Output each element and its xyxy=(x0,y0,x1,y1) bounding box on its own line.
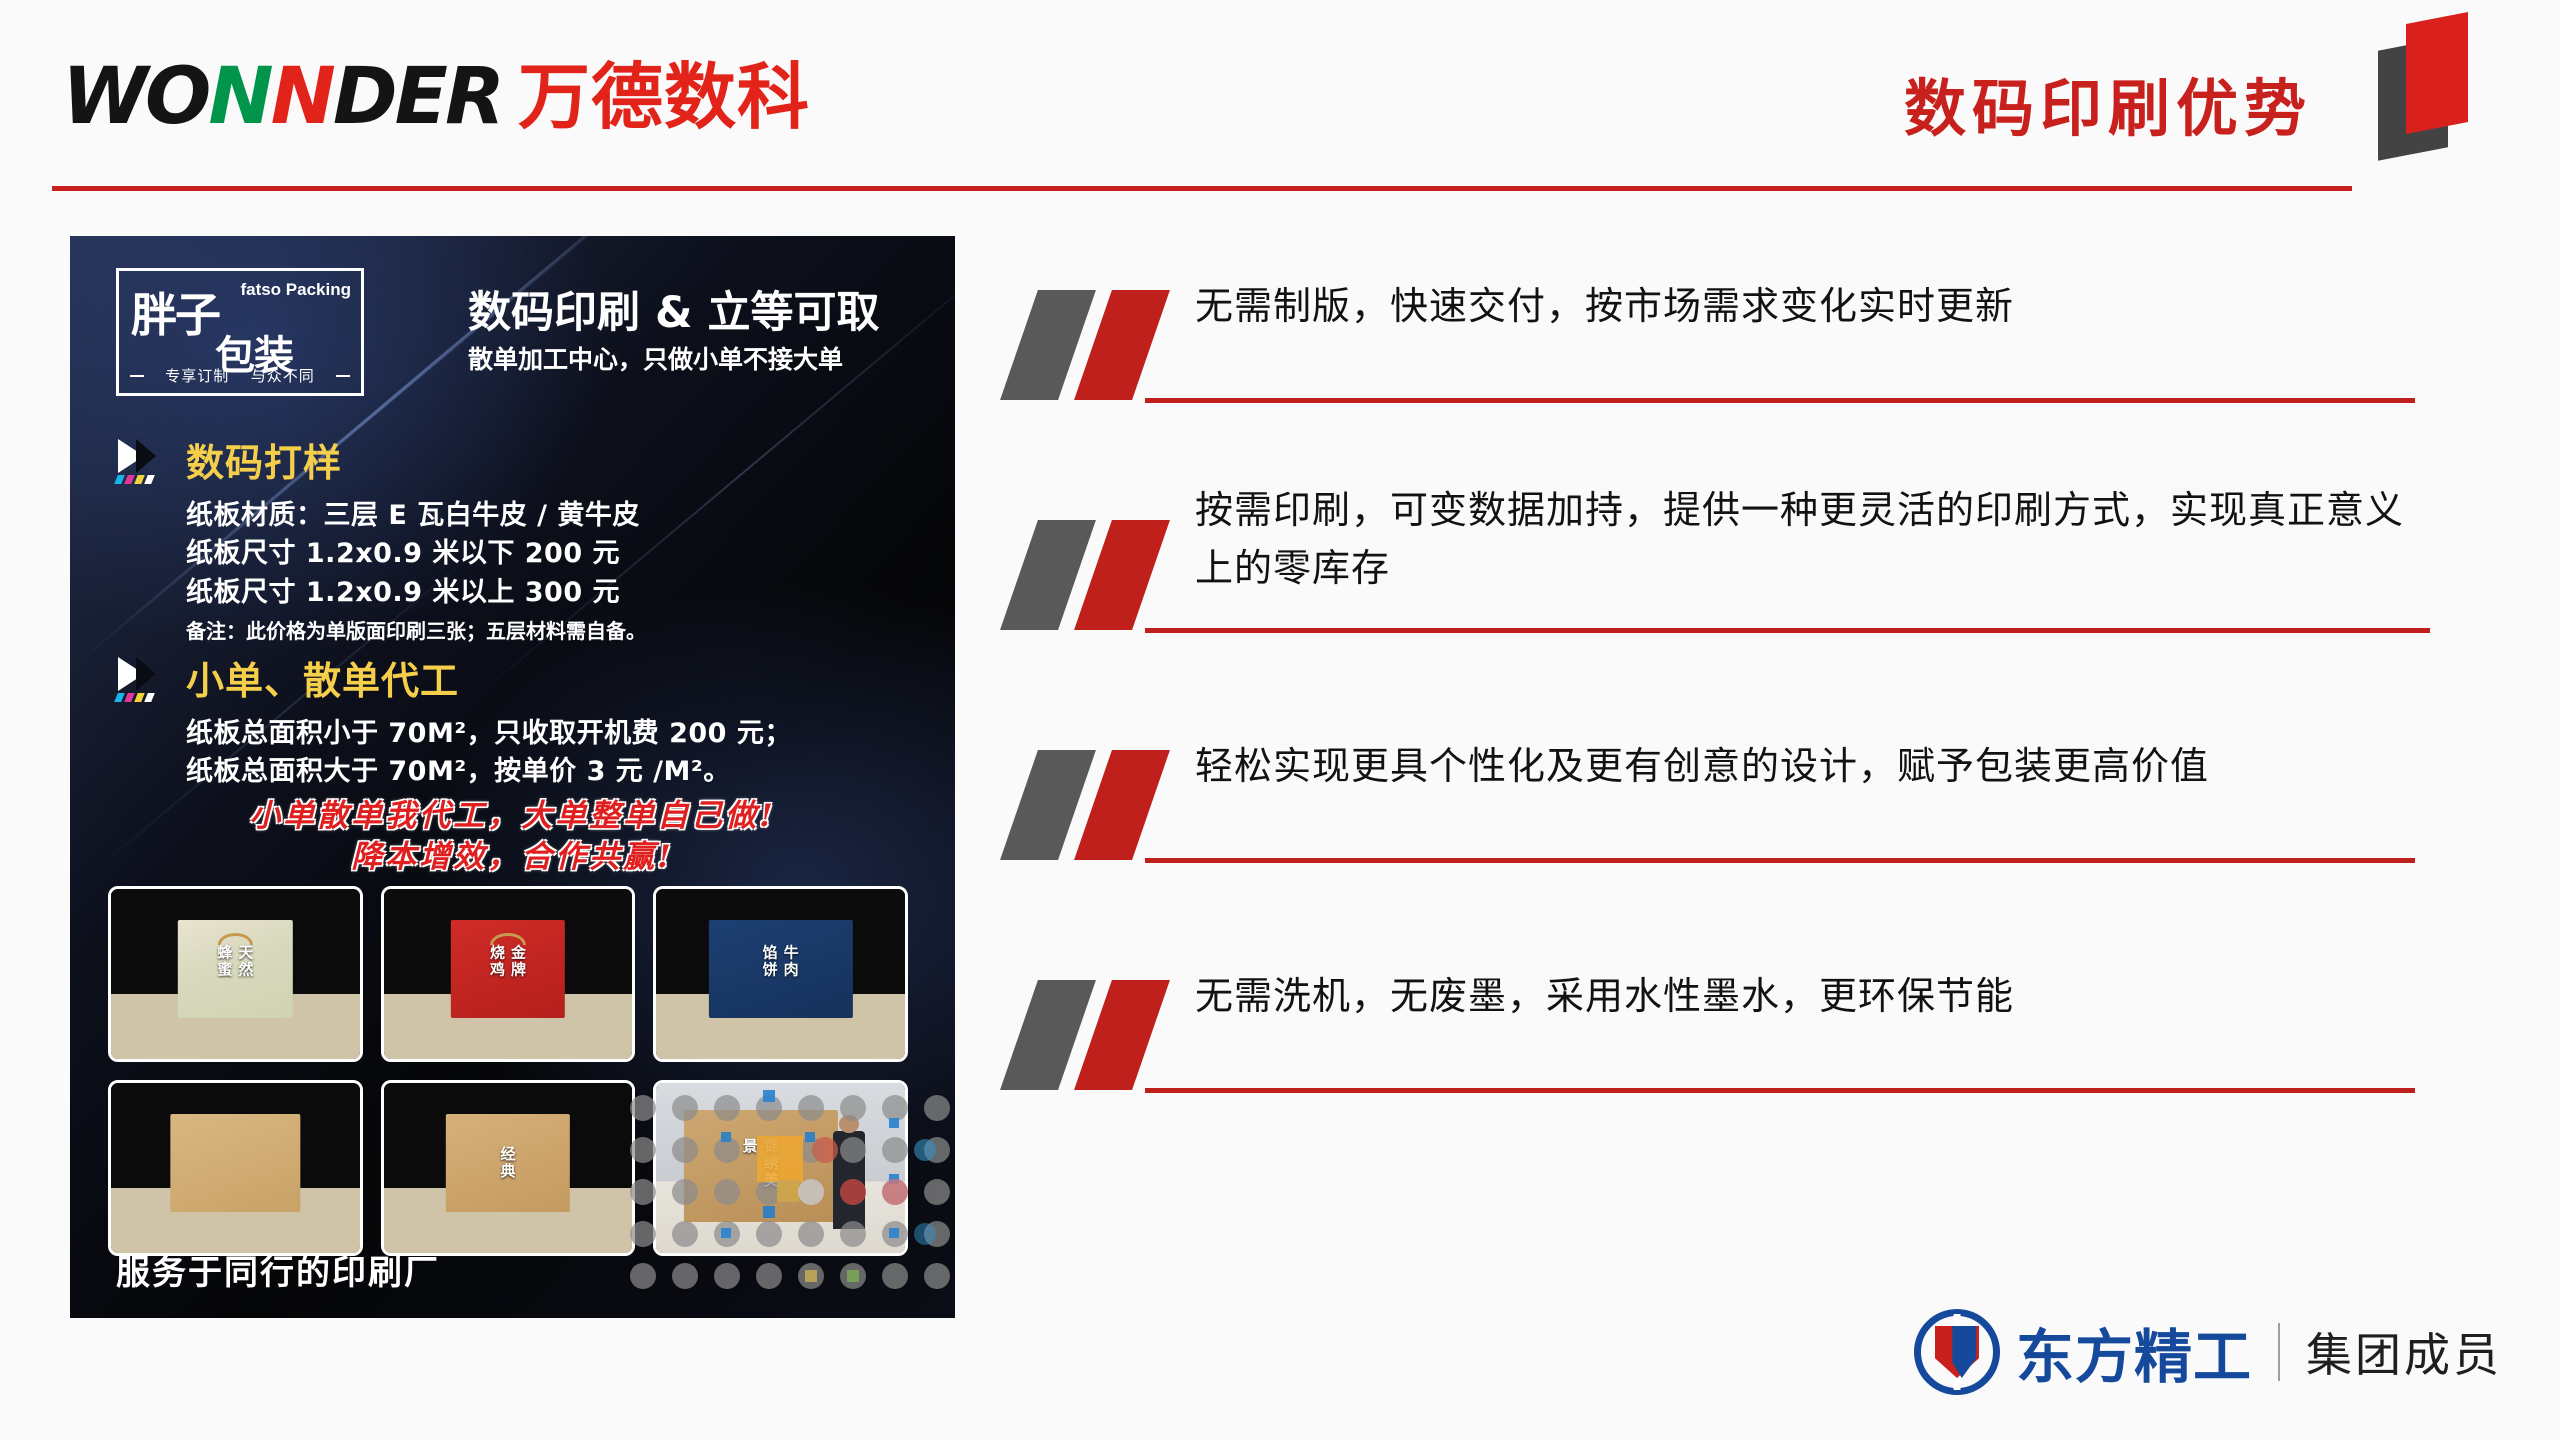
bullet-marker-icon xyxy=(1015,980,1190,1090)
poster-slogan-line1: 小单散单我代工，大单整单自己做! xyxy=(70,796,955,837)
brand-chinese-name: 万德数科 xyxy=(518,61,810,133)
tagline-right-bar xyxy=(336,375,350,377)
bullet-marker-icon xyxy=(1015,520,1190,630)
product-box: 天然蜂蜜 xyxy=(178,920,292,1019)
corner-parallelogram-icon xyxy=(2368,8,2488,158)
poster-section-line: 纸板尺寸 1.2x0.9 米以下 200 元 xyxy=(186,535,914,573)
poster-headline: 数码印刷 & 立等可取 xyxy=(468,278,879,340)
product-box-label: 牛肉馅饼 xyxy=(760,944,802,993)
footer-member-label: 集团成员 xyxy=(2306,1319,2502,1385)
bullet-text: 按需印刷，可变数据加持，提供一种更灵活的印刷方式，实现真正意义上的零库存 xyxy=(1195,482,2410,598)
bullet-text: 轻松实现更具个性化及更有创意的设计，赋予包装更高价值 xyxy=(1195,738,2410,796)
bullet-underline xyxy=(1145,858,2415,863)
mark-tick-bottom xyxy=(1953,1378,1960,1390)
fatso-packing-logo: 胖子 fatso Packing 包装 专享订制 与众不同 xyxy=(116,268,364,396)
poster-section-note: 备注：此价格为单版面印刷三张；五层材料需自备。 xyxy=(186,616,914,646)
poster-section-title: 数码打样 xyxy=(186,432,342,487)
wonder-brand-logo: W O N N DER 万德数科 xyxy=(62,52,810,142)
header-divider xyxy=(52,186,2352,191)
bullet-item: 轻松实现更具个性化及更有创意的设计，赋予包装更高价值 xyxy=(1015,728,2495,958)
bullet-underline xyxy=(1145,628,2430,633)
poster-section-line: 纸板总面积小于 70M²，只收取开机费 200 元； xyxy=(186,715,914,753)
poster-section-heading: 小单、散单代工 xyxy=(114,650,914,705)
footer-company-name: 东方精工 xyxy=(2016,1310,2252,1394)
bullet-underline xyxy=(1145,398,2415,403)
fatso-logo-main-text: 胖子 xyxy=(131,279,219,345)
wonder-letter-n-green: N xyxy=(208,58,270,136)
cmyk-dots xyxy=(114,693,155,702)
bullet-item: 无需洗机，无废墨，采用水性墨水，更环保节能 xyxy=(1015,958,2495,1188)
wonder-letter-o: O xyxy=(145,58,208,136)
page-title: 数码印刷优势 xyxy=(1904,58,2312,148)
product-box: 牛肉馅饼 xyxy=(709,920,853,1019)
tagline-left: 专享订制 xyxy=(165,365,229,386)
chevron-arrow-icon xyxy=(114,437,178,483)
cmyk-dots xyxy=(114,475,155,484)
poster-section-line: 纸板材质：三层 E 瓦白牛皮 / 黄牛皮 xyxy=(186,497,914,535)
poster-section-title: 小单、散单代工 xyxy=(186,650,459,705)
poster-footer-text: 服务于同行的印刷厂 xyxy=(116,1245,440,1294)
poster-slogan-line2: 降本增效，合作共赢! xyxy=(70,837,955,878)
chevron-arrow-icon xyxy=(114,655,178,701)
dot-pattern-decoration xyxy=(625,1088,955,1318)
poster-slogan: 小单散单我代工，大单整单自己做! 降本增效，合作共赢! xyxy=(70,796,955,878)
poster-section-body: 纸板总面积小于 70M²，只收取开机费 200 元； 纸板总面积大于 70M²，… xyxy=(186,715,914,792)
fatso-logo-taglines: 专享订制 与众不同 xyxy=(119,365,361,386)
bullet-text: 无需洗机，无废墨，采用水性墨水，更环保节能 xyxy=(1195,968,2410,1026)
poster-section-body: 纸板材质：三层 E 瓦白牛皮 / 黄牛皮 纸板尺寸 1.2x0.9 米以下 20… xyxy=(186,497,914,646)
promo-poster-image: 胖子 fatso Packing 包装 专享订制 与众不同 数码印刷 & 立等可… xyxy=(70,236,955,1318)
product-photo-card xyxy=(108,1080,363,1256)
wonder-letter-n-red: N xyxy=(271,58,333,136)
advantages-bullet-list: 无需制版，快速交付，按市场需求变化实时更新 按需印刷，可变数据加持，提供一种更灵… xyxy=(1015,268,2495,1188)
tagline-right: 与众不同 xyxy=(251,365,315,386)
chevron-inner xyxy=(136,657,156,691)
product-box-label: 经典 xyxy=(497,1146,518,1180)
product-box-label: 金牌烧鸡 xyxy=(487,944,529,993)
product-box xyxy=(171,1114,300,1213)
yellow-dot xyxy=(134,693,145,702)
wonder-letters-der: DER xyxy=(333,58,502,136)
poster-section-line: 纸板总面积大于 70M²，按单价 3 元 /M²。 xyxy=(186,753,914,791)
fatso-logo-english-text: fatso Packing xyxy=(240,280,351,300)
cyan-dot xyxy=(114,475,125,484)
product-photo-card: 牛肉馅饼 xyxy=(653,886,908,1062)
cyan-dot xyxy=(114,693,125,702)
dongfang-jinggong-logo-icon: 东方精工 集团成员 xyxy=(1914,1306,2502,1398)
product-photo-card: 天然蜂蜜 xyxy=(108,886,363,1062)
product-box: 经典 xyxy=(446,1114,570,1213)
poster-section-heading: 数码打样 xyxy=(114,432,914,487)
bullet-item: 按需印刷，可变数据加持，提供一种更灵活的印刷方式，实现真正意义上的零库存 xyxy=(1015,498,2495,728)
product-box-label: 天然蜂蜜 xyxy=(214,944,256,993)
product-photo-card: 经典 xyxy=(381,1080,636,1256)
tagline-left-bar xyxy=(130,375,144,377)
mark-tick-top xyxy=(1953,1314,1960,1326)
bullet-item: 无需制版，快速交付，按市场需求变化实时更新 xyxy=(1015,268,2495,498)
poster-subheadline: 散单加工中心，只做小单不接大单 xyxy=(468,340,843,376)
yellow-dot xyxy=(134,475,145,484)
white-dot xyxy=(144,693,155,702)
wonder-wordmark: W O N N DER xyxy=(62,58,502,136)
bullet-marker-icon xyxy=(1015,750,1190,860)
slide-header: W O N N DER 万德数科 数码印刷优势 xyxy=(0,0,2560,200)
wonder-letter-w: W xyxy=(62,58,145,136)
magenta-dot xyxy=(124,475,135,484)
product-box: 金牌烧鸡 xyxy=(451,920,565,1019)
footer-divider xyxy=(2278,1323,2280,1381)
bullet-text: 无需制版，快速交付，按市场需求变化实时更新 xyxy=(1195,278,2410,336)
corner-red-shape xyxy=(2406,12,2468,134)
dfjg-circular-mark xyxy=(1914,1309,2000,1395)
bullet-underline xyxy=(1145,1088,2415,1093)
magenta-dot xyxy=(124,693,135,702)
product-photo-card: 金牌烧鸡 xyxy=(381,886,636,1062)
bullet-marker-icon xyxy=(1015,290,1190,400)
poster-section-digital-proofing: 数码打样 纸板材质：三层 E 瓦白牛皮 / 黄牛皮 纸板尺寸 1.2x0.9 米… xyxy=(114,432,914,646)
poster-section-line: 纸板尺寸 1.2x0.9 米以上 300 元 xyxy=(186,574,914,612)
chevron-inner xyxy=(136,439,156,473)
poster-section-small-orders: 小单、散单代工 纸板总面积小于 70M²，只收取开机费 200 元； 纸板总面积… xyxy=(114,650,914,792)
white-dot xyxy=(144,475,155,484)
